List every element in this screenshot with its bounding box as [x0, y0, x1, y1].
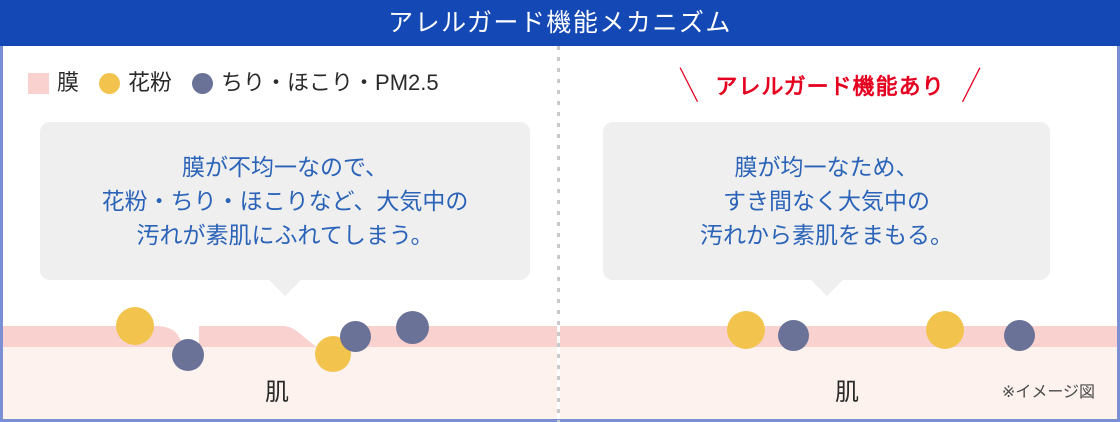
left-particle-dust-1	[172, 339, 204, 371]
bracket-right-icon: ／	[953, 68, 991, 106]
allerguard-mechanism-figure: アレルガード機能メカニズム 膜 花粉 ちり・ほこり・PM2.5 ＼ アレルガード…	[0, 0, 1120, 422]
left-particle-dust-2	[340, 321, 371, 352]
bracket-left-icon: ＼	[669, 68, 707, 106]
left-bubble-line-1: 膜が不均一なので、	[182, 150, 388, 184]
legend-label-pollen: 花粉	[128, 72, 172, 94]
membrane-square-swatch-icon	[28, 73, 49, 94]
right-skin-label: 肌	[835, 381, 859, 405]
legend: 膜 花粉 ちり・ほこり・PM2.5	[28, 70, 439, 96]
right-speech-bubble: 膜が均一なため、 すき間なく大気中の 汚れから素肌をまもる。	[603, 122, 1050, 280]
left-speech-bubble: 膜が不均一なので、 花粉・ちり・ほこりなど、大気中の 汚れが素肌にふれてしまう。	[40, 122, 530, 280]
right-particle-pollen-1	[727, 311, 765, 349]
right-bubble-line-2: すき間なく大気中の	[723, 184, 930, 218]
left-diagram-panel: 肌	[3, 296, 557, 419]
page-title: アレルガード機能メカニズム	[388, 11, 732, 36]
left-bubble-line-3: 汚れが素肌にふれてしまう。	[137, 218, 434, 252]
legend-item-pollen: 花粉	[99, 72, 172, 94]
figure-header-bar: アレルガード機能メカニズム	[0, 0, 1120, 46]
left-particle-pollen-1	[116, 307, 154, 345]
dust-circle-swatch-icon	[192, 73, 213, 94]
right-panel-title-text: アレルガード機能あり	[715, 76, 944, 98]
pollen-circle-swatch-icon	[99, 73, 120, 94]
legend-label-dust: ちり・ほこり・PM2.5	[221, 72, 439, 94]
image-disclaimer-note: ※イメージ図	[1002, 385, 1095, 401]
legend-item-dust: ちり・ほこり・PM2.5	[192, 72, 439, 94]
legend-label-membrane: 膜	[57, 72, 79, 94]
legend-item-membrane: 膜	[28, 72, 79, 94]
right-particle-pollen-2	[926, 311, 964, 349]
right-diagram-panel: 肌 ※イメージ図	[560, 296, 1117, 419]
left-bubble-tail-icon	[268, 279, 302, 296]
right-panel-title: ＼ アレルガード機能あり ／	[600, 72, 1060, 102]
right-particle-dust-1	[778, 320, 809, 351]
left-particle-dust-3	[396, 311, 429, 344]
right-bubble-line-1: 膜が均一なため、	[735, 150, 919, 184]
right-particle-dust-2	[1004, 320, 1035, 351]
right-bubble-tail-icon	[810, 279, 844, 296]
left-skin-label: 肌	[265, 381, 289, 405]
left-bubble-line-2: 花粉・ちり・ほこりなど、大気中の	[102, 184, 469, 218]
right-bubble-line-3: 汚れから素肌をまもる。	[700, 218, 953, 252]
